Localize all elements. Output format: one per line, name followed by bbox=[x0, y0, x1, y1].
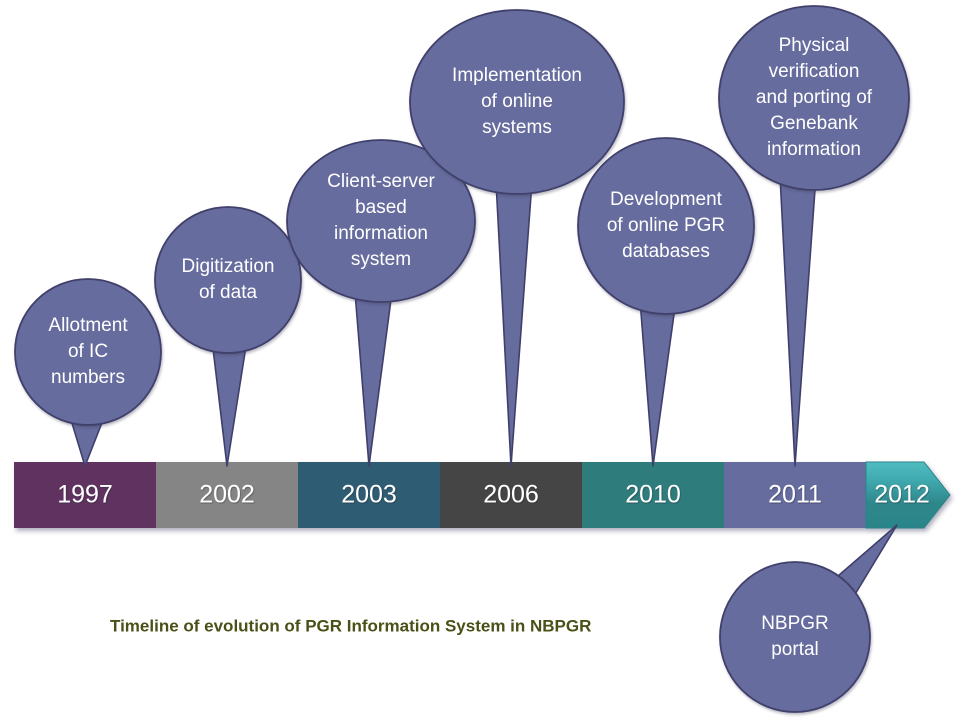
callout-line-client-server: system bbox=[351, 249, 411, 270]
callout-line-allotment: numbers bbox=[51, 367, 125, 388]
callout-allotment[interactable]: Allotmentof ICnumbers bbox=[15, 279, 161, 425]
timeline-year-label-2010: 2010 bbox=[625, 481, 681, 509]
callout-line-allotment: Allotment bbox=[48, 315, 128, 336]
callout-line-client-server: Client-server bbox=[327, 171, 435, 192]
timeline-year-label-2012: 2012 bbox=[874, 481, 930, 509]
timeline-year-label-1997: 1997 bbox=[57, 481, 113, 509]
callout-line-online-systems: systems bbox=[482, 117, 552, 138]
callout-tail-client-server bbox=[355, 292, 392, 466]
callout-line-genebank-verification: Physical bbox=[779, 35, 850, 56]
diagram-canvas: 1997200220032006201020112012 Allotmentof… bbox=[0, 0, 960, 720]
callout-line-online-pgr-databases: databases bbox=[622, 241, 710, 262]
callout-tail-genebank-verification bbox=[780, 176, 816, 466]
callout-line-genebank-verification: Genebank bbox=[770, 113, 858, 134]
callout-shape-nbpgr-portal bbox=[720, 562, 870, 712]
callout-genebank-verification[interactable]: Physicalverificationand porting ofGeneba… bbox=[719, 6, 909, 190]
callout-line-genebank-verification: information bbox=[767, 139, 861, 160]
callout-line-digitization: of data bbox=[199, 282, 258, 303]
callout-line-client-server: information bbox=[334, 223, 428, 244]
callout-line-nbpgr-portal: portal bbox=[771, 639, 819, 660]
timeline-year-label-2002: 2002 bbox=[199, 481, 255, 509]
callout-digitization[interactable]: Digitizationof data bbox=[155, 207, 301, 353]
callout-line-nbpgr-portal: NBPGR bbox=[761, 613, 829, 634]
callout-line-online-systems: Implementation bbox=[452, 65, 582, 86]
timeline-year-label-2011: 2011 bbox=[768, 481, 822, 509]
callout-line-online-systems: of online bbox=[481, 91, 553, 112]
callout-online-systems[interactable]: Implementationof onlinesystems bbox=[410, 10, 624, 194]
callout-line-genebank-verification: and porting of bbox=[756, 87, 873, 108]
timeline-year-label-2003: 2003 bbox=[341, 481, 397, 509]
diagram-caption: Timeline of evolution of PGR Information… bbox=[110, 616, 591, 635]
callout-line-genebank-verification: verification bbox=[769, 61, 860, 82]
timeline-year-label-2006: 2006 bbox=[483, 481, 539, 509]
callout-tail-digitization bbox=[212, 340, 247, 466]
callout-tail-online-pgr-databases bbox=[640, 300, 676, 466]
callout-nbpgr-portal[interactable]: NBPGRportal bbox=[720, 562, 870, 712]
callout-bubbles: Allotmentof ICnumbersDigitizationof data… bbox=[15, 6, 909, 712]
callout-shape-digitization bbox=[155, 207, 301, 353]
callout-line-client-server: based bbox=[355, 197, 407, 218]
callout-line-digitization: Digitization bbox=[182, 256, 275, 277]
callout-line-allotment: of IC bbox=[68, 341, 108, 362]
timeline-diagram: 1997200220032006201020112012 Allotmentof… bbox=[0, 0, 960, 720]
callout-online-pgr-databases[interactable]: Developmentof online PGRdatabases bbox=[578, 138, 754, 314]
callout-tail-online-systems bbox=[496, 182, 532, 466]
callout-line-online-pgr-databases: of online PGR bbox=[607, 215, 725, 236]
callout-line-online-pgr-databases: Development bbox=[610, 189, 723, 210]
